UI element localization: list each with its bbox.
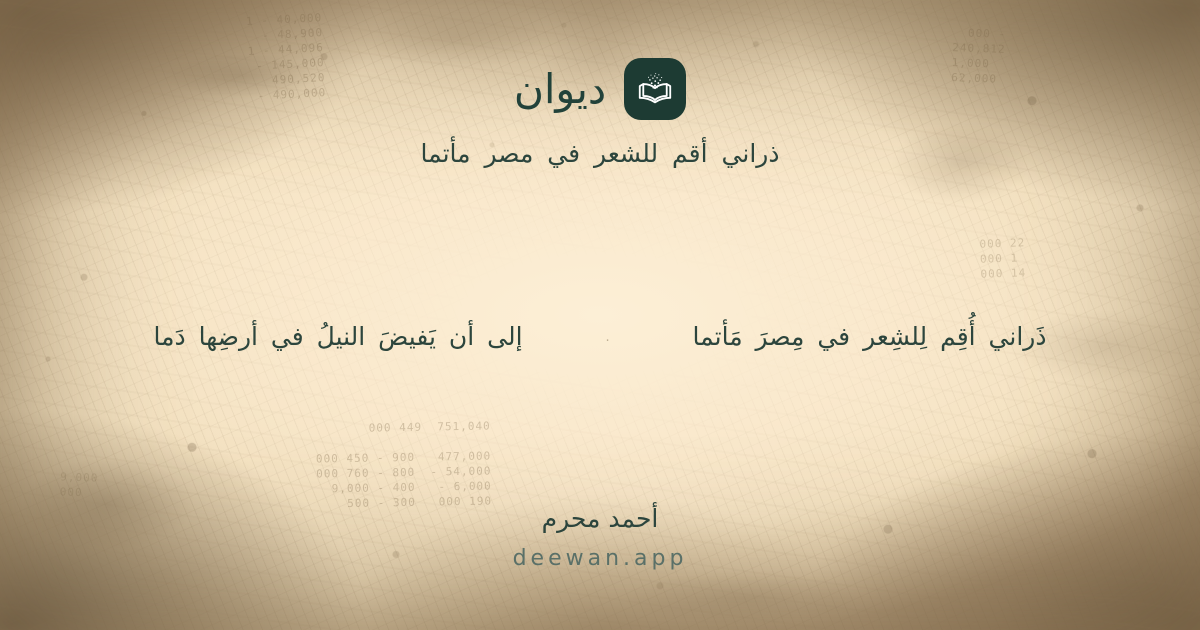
poem-title: ذراني أقم للشعر في مصر مأتما [0, 137, 1200, 171]
open-book-sparkles-icon [624, 58, 686, 120]
card-footer: أحمد محرم deewan.app [0, 504, 1200, 572]
verse-hemistich-right: ذَراني أُقِم لِلشِعر في مِصرَ مَأتما [693, 318, 1047, 356]
card-content: ديوان ذراني أقم للشعر في مصر مأتما ذَران… [0, 0, 1200, 630]
verse-hemistich-left: إلى أن يَفيضَ النيلُ في أرضِها دَما [153, 318, 522, 356]
poem-verse: ذَراني أُقِم لِلشِعر في مِصرَ مَأتما · إ… [0, 318, 1200, 356]
brand-name: ديوان [514, 69, 606, 110]
social-share-card: 40,000 - 1 48,900 - 44,096 - 1 145,000 -… [0, 0, 1200, 630]
brand-header: ديوان [0, 58, 1200, 120]
verse-separator: · [523, 332, 693, 352]
poet-name: أحمد محرم [0, 504, 1200, 534]
site-url: deewan.app [0, 546, 1200, 572]
